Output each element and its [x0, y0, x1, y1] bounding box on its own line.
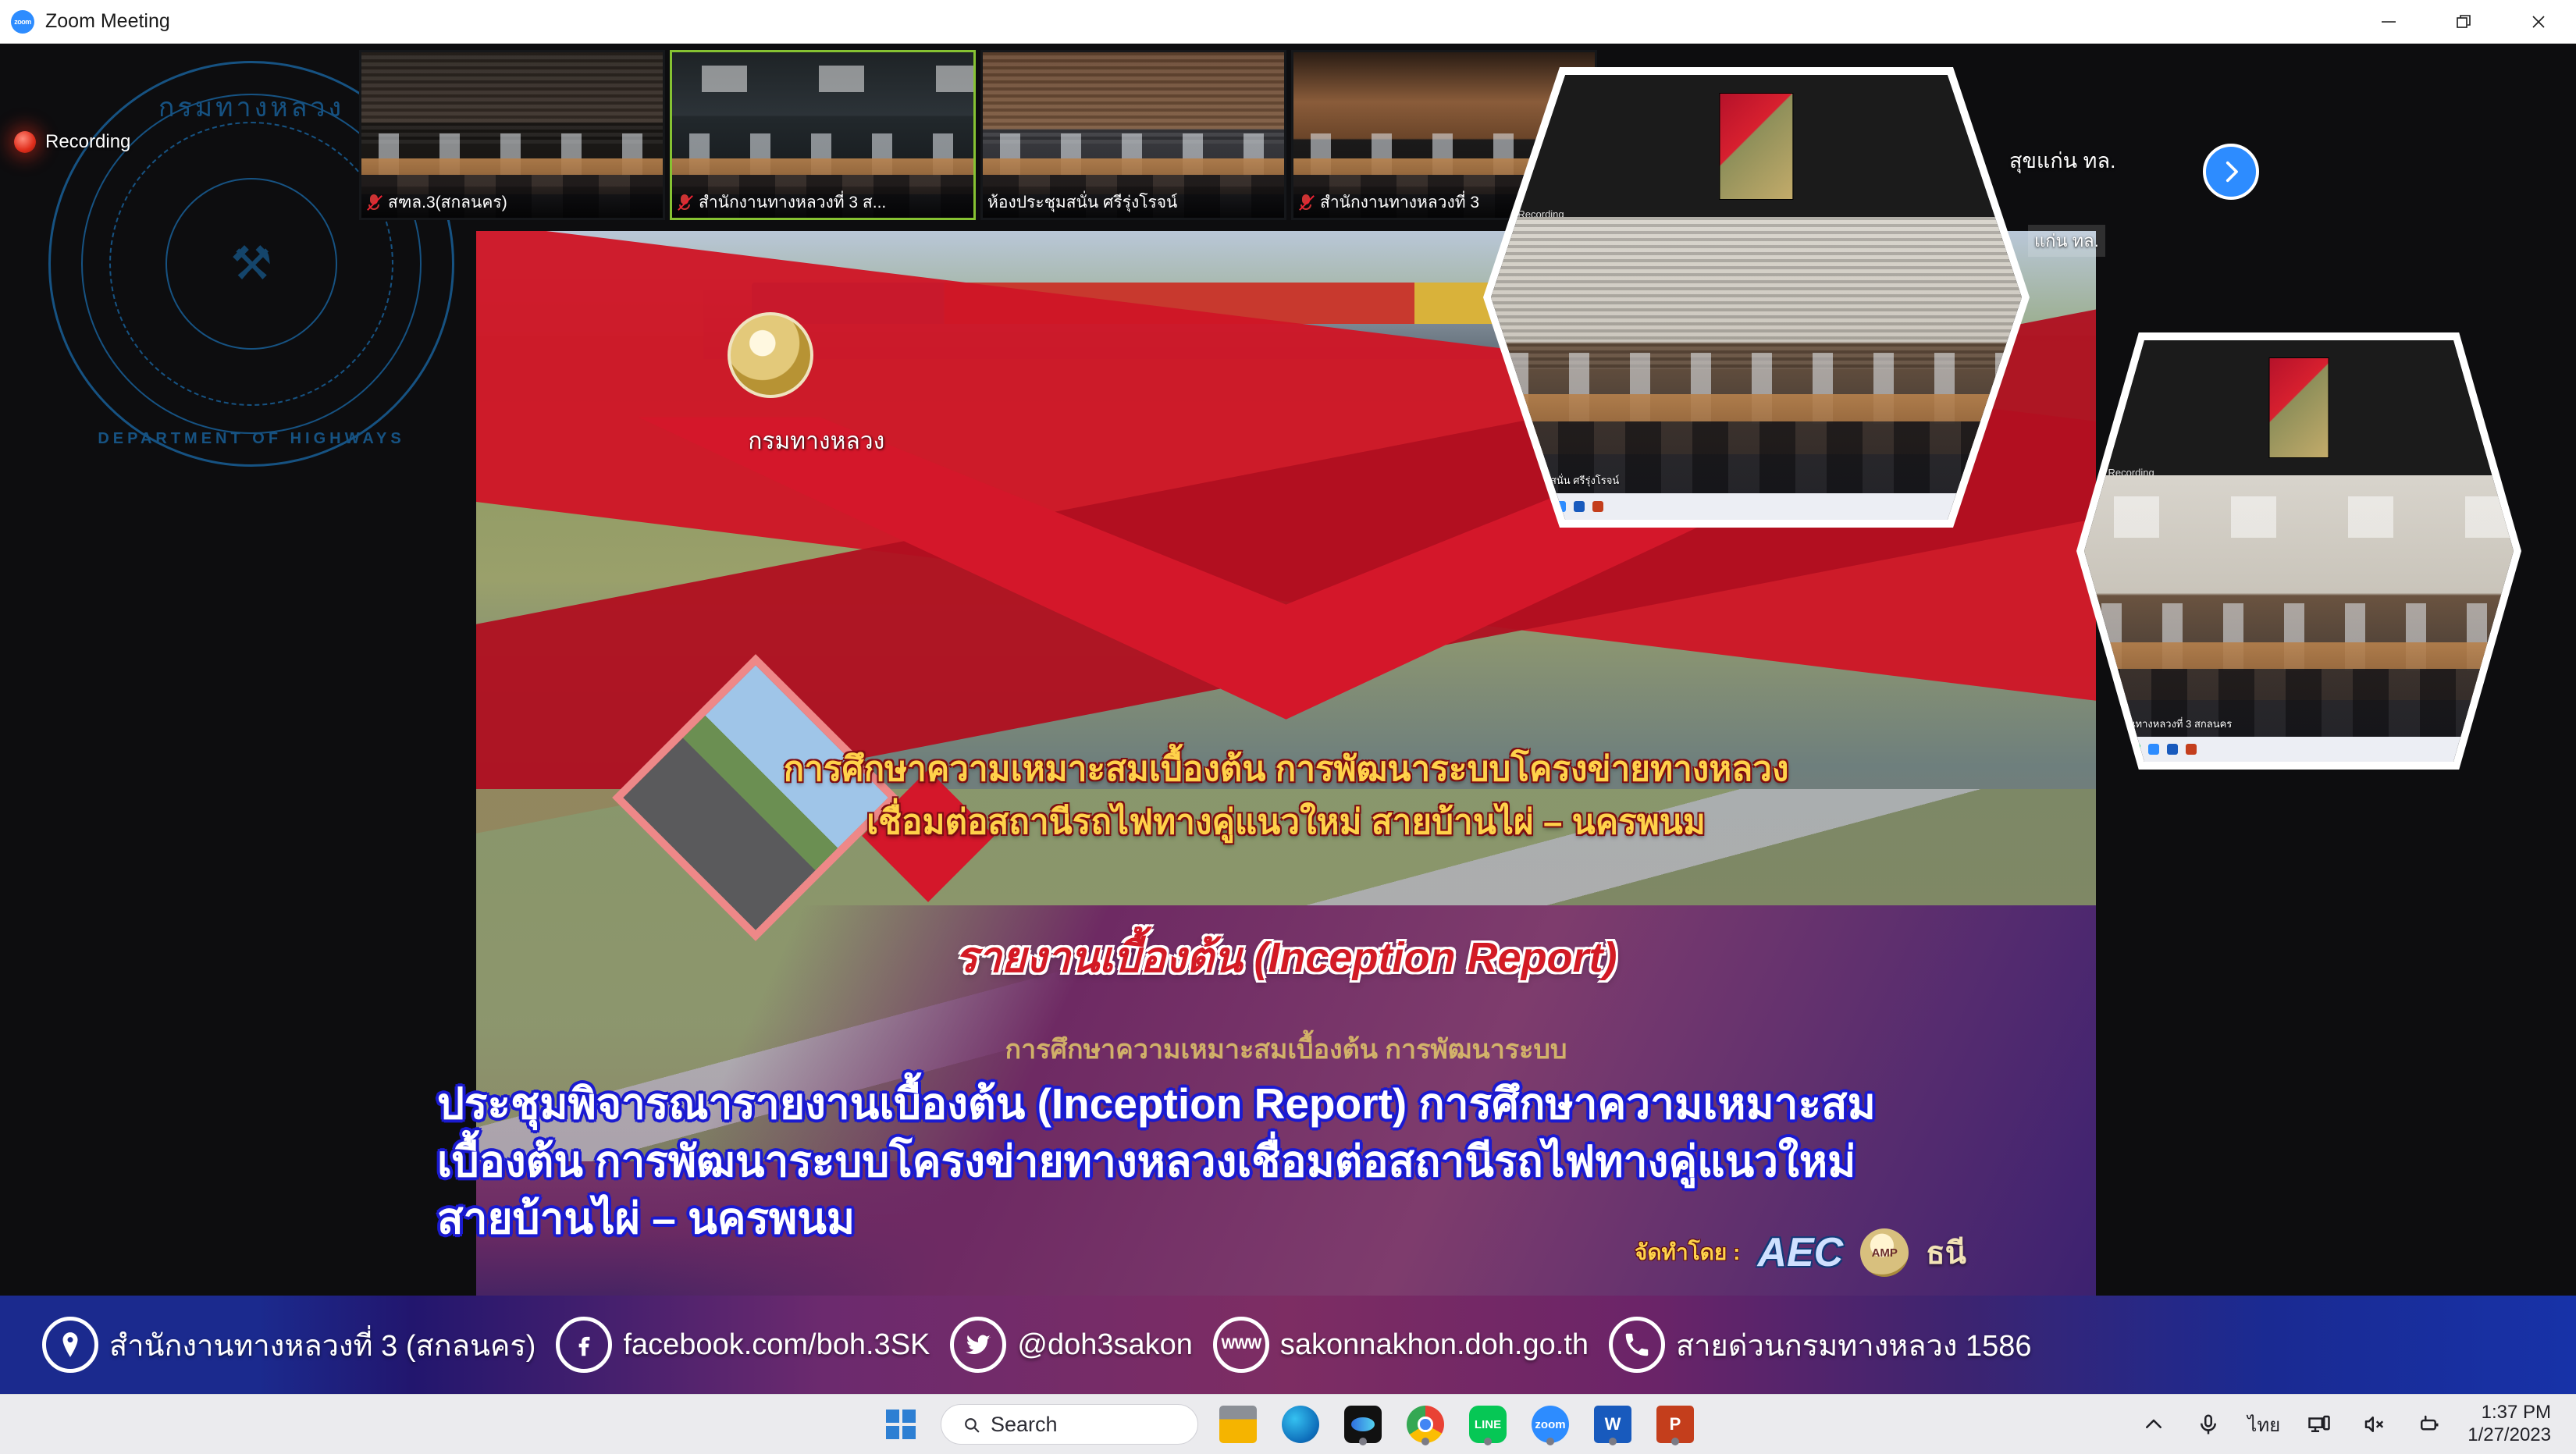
doh-gold-seal-icon	[728, 312, 813, 398]
location-pin-icon	[42, 1317, 98, 1373]
restore-button[interactable]	[2426, 0, 2501, 44]
hex-frame: Recording ห้องประชุมสนั่น ศรีรุ่งโรจน์	[1483, 67, 2030, 528]
watermark-emblem-icon: ⚒	[177, 190, 326, 338]
contact-office-text: สำนักงานทางหลวงที่ 3 (สกลนคร)	[109, 1321, 535, 1369]
inner-recording-dot-icon	[2097, 469, 2105, 476]
taskbar-center-group: Search LINE zoom W	[878, 1395, 1698, 1454]
zoom-icon: zoom	[1532, 1406, 1569, 1443]
clock[interactable]: 1:37 PM 1/27/2023	[2467, 1402, 2551, 1447]
hex-video-content: Recording ห้องประชุมสนั่น ศรีรุ่งโรจน์	[1491, 75, 2022, 520]
slide-title: การศึกษาความเหมาะสมเบื้องต้น การพัฒนาระบ…	[476, 743, 2096, 849]
language-indicator[interactable]: ไทย	[2247, 1410, 2280, 1440]
next-page-button[interactable]	[2203, 144, 2259, 200]
contact-hotline: สายด่วนกรมทางหลวง 1586	[1609, 1317, 2032, 1373]
watermark-bottom-text: DEPARTMENT OF HIGHWAYS	[48, 430, 454, 448]
window-title: Zoom Meeting	[45, 10, 170, 33]
microsoft-word-icon: W	[1594, 1406, 1631, 1443]
participant-name: สฑล.3(สกลนคร)	[388, 190, 507, 215]
caption-line-3: สายบ้านไผ่ – นครพนม	[437, 1190, 2186, 1248]
recording-label: Recording	[45, 131, 130, 153]
caption-line-1: ประชุมพิจารณารายงานเบื้องต้น (Inception …	[437, 1075, 2186, 1133]
participant-name: สำนักงานทางหลวงที่ 3 ส...	[699, 190, 886, 215]
contact-website-text: sakonnakhon.doh.go.th	[1280, 1328, 1589, 1362]
taskbar-app-zoom[interactable]: zoom	[1528, 1402, 1573, 1447]
line-icon: LINE	[1469, 1406, 1507, 1443]
participant-thumbnail[interactable]: สำนักงานทางหลวงที่ 3 ส...	[670, 50, 976, 220]
microsoft-powerpoint-icon: P	[1656, 1406, 1694, 1443]
taskbar-app-copilot[interactable]	[1340, 1402, 1386, 1447]
chevron-right-icon	[2218, 158, 2244, 185]
copilot-icon	[1344, 1406, 1382, 1443]
taskbar-app-microsoft-edge[interactable]	[1278, 1402, 1323, 1447]
participant-thumbnail[interactable]: ห้องประชุมสนั่น ศรีรุ่งโรจน์	[980, 50, 1286, 220]
meeting-stage: กรมทางหลวง ⚒ DEPARTMENT OF HIGHWAYS Reco…	[0, 44, 2576, 1394]
contact-hotline-text: สายด่วนกรมทางหลวง 1586	[1676, 1321, 2032, 1369]
taskbar-search-box[interactable]: Search	[941, 1404, 1198, 1445]
tray-overflow-button[interactable]	[2138, 1409, 2169, 1440]
contact-twitter-text: @doh3sakon	[1017, 1328, 1193, 1362]
windows-taskbar: Search LINE zoom W	[0, 1394, 2576, 1454]
participant-label-bar: ห้องประชุมสนั่น ศรีรุ่งโรจน์	[983, 187, 1284, 218]
inner-taskbar	[2084, 737, 2514, 762]
battery-button[interactable]	[2413, 1409, 2444, 1440]
chevron-up-icon	[2142, 1413, 2165, 1436]
phone-icon	[1609, 1317, 1665, 1373]
clock-time: 1:37 PM	[2467, 1402, 2551, 1424]
start-button[interactable]	[878, 1402, 923, 1447]
windows-logo-icon	[886, 1410, 916, 1439]
participant-name: ห้องประชุมสนั่น ศรีรุ่งโรจน์	[987, 190, 1177, 215]
recording-indicator[interactable]: Recording	[14, 131, 130, 153]
contact-website[interactable]: WWW sakonnakhon.doh.go.th	[1213, 1317, 1589, 1373]
slide-org-label: กรมทางหลวง	[671, 423, 962, 460]
mic-muted-icon	[1298, 193, 1314, 212]
taskbar-app-file-explorer[interactable]	[1215, 1402, 1261, 1447]
volume-muted-icon	[2362, 1413, 2386, 1436]
meeting-caption-overlay: ประชุมพิจารณารายงานเบื้องต้น (Inception …	[437, 1075, 2186, 1248]
inner-participant-name: สำนักงานทางหลวงที่ 3 สกลนคร	[2093, 716, 2232, 732]
taskbar-app-microsoft-powerpoint[interactable]: P	[1653, 1402, 1698, 1447]
taskbar-app-line[interactable]: LINE	[1465, 1402, 1510, 1447]
recording-dot-icon	[14, 131, 36, 153]
zoom-logo-icon: zoom	[11, 10, 34, 34]
spotlight-video-panel-secondary[interactable]: Recording สำนักงานทางหลวงที่ 3 สกลนคร	[2076, 332, 2521, 770]
clock-date: 1/27/2023	[2467, 1424, 2551, 1447]
screen-share-view: Recording ห้องประชุมสนั่น ศรีรุ่งโรจน์	[1491, 75, 2022, 520]
globe-icon: WWW	[1213, 1317, 1269, 1373]
search-icon	[962, 1415, 981, 1434]
spotlight-video-panel[interactable]: Recording ห้องประชุมสนั่น ศรีรุ่งโรจน์	[1483, 67, 2030, 528]
taskbar-app-microsoft-word[interactable]: W	[1590, 1402, 1635, 1447]
contact-facebook-text: facebook.com/boh.3SK	[623, 1328, 930, 1362]
network-icon	[2307, 1413, 2331, 1436]
participant-label-bar: สำนักงานทางหลวงที่ 3 ส...	[672, 187, 973, 218]
caption-line-2: เบื้องต้น การพัฒนาระบบโครงข่ายทางหลวงเชื…	[437, 1133, 2186, 1191]
file-explorer-icon	[1219, 1406, 1257, 1443]
google-chrome-icon	[1407, 1406, 1444, 1443]
mini-slide-thumbnail	[2269, 357, 2329, 459]
twitter-icon	[950, 1317, 1006, 1373]
inner-participant-name: ห้องประชุมสนั่น ศรีรุ่งโรจน์	[1502, 472, 1620, 489]
microphone-icon	[2197, 1413, 2220, 1436]
contact-facebook[interactable]: facebook.com/boh.3SK	[556, 1317, 930, 1373]
contact-office: สำนักงานทางหลวงที่ 3 (สกลนคร)	[42, 1317, 535, 1373]
title-bar: zoom Zoom Meeting	[0, 0, 2576, 44]
hex-frame: Recording สำนักงานทางหลวงที่ 3 สกลนคร	[2076, 332, 2521, 770]
system-tray: ไทย	[2138, 1395, 2576, 1454]
inner-recording-dot-icon	[1507, 211, 1514, 218]
microsoft-edge-icon	[1282, 1406, 1319, 1443]
conference-room-video	[2084, 475, 2514, 737]
slide-title-line-2: เชื่อมต่อสถานีรถไฟทางคู่แนวใหม่ สายบ้านไ…	[476, 796, 2096, 849]
inner-taskbar	[1491, 493, 2022, 520]
slide-title-line-1: การศึกษาความเหมาะสมเบื้องต้น การพัฒนาระบ…	[476, 743, 2096, 796]
slide-subtitle: การศึกษาความเหมาะสมเบื้องต้น การพัฒนาระบ…	[476, 1028, 2096, 1070]
window-controls	[2351, 0, 2576, 44]
mic-muted-icon	[677, 193, 692, 212]
search-placeholder: Search	[991, 1413, 1058, 1437]
zoom-meeting-window: zoom Zoom Meeting	[0, 0, 2576, 1454]
mini-slide-thumbnail	[1719, 93, 1793, 200]
volume-button[interactable]	[2358, 1409, 2389, 1440]
hex-video-content: Recording สำนักงานทางหลวงที่ 3 สกลนคร	[2084, 340, 2514, 762]
contact-info-bar: สำนักงานทางหลวงที่ 3 (สกลนคร) facebook.c…	[0, 1296, 2576, 1394]
conference-room-video	[1491, 217, 2022, 492]
taskbar-app-google-chrome[interactable]	[1403, 1402, 1448, 1447]
slide-report-title: รายงานเบื้องต้น (Inception Report)	[476, 923, 2096, 990]
spotlight-participant-name-secondary: แก่น ทล.	[2028, 225, 2105, 257]
mic-muted-icon	[366, 193, 382, 212]
participant-thumbnail[interactable]: สฑล.3(สกลนคร)	[359, 50, 665, 220]
battery-charging-icon	[2417, 1413, 2440, 1436]
minimize-button[interactable]	[2351, 0, 2426, 44]
participant-filmstrip: สฑล.3(สกลนคร) สำนักงานทางหลวงที่ 3 ส...	[359, 50, 1597, 220]
microphone-button[interactable]	[2193, 1409, 2224, 1440]
facebook-icon	[556, 1317, 612, 1373]
contact-twitter[interactable]: @doh3sakon	[950, 1317, 1193, 1373]
screen-share-view: Recording สำนักงานทางหลวงที่ 3 สกลนคร	[2084, 340, 2514, 762]
participant-label-bar: สฑล.3(สกลนคร)	[361, 187, 663, 218]
network-button[interactable]	[2304, 1409, 2335, 1440]
line-icon-label: LINE	[1475, 1418, 1501, 1431]
close-button[interactable]	[2501, 0, 2576, 44]
participant-name: สำนักงานทางหลวงที่ 3	[1320, 190, 1479, 215]
